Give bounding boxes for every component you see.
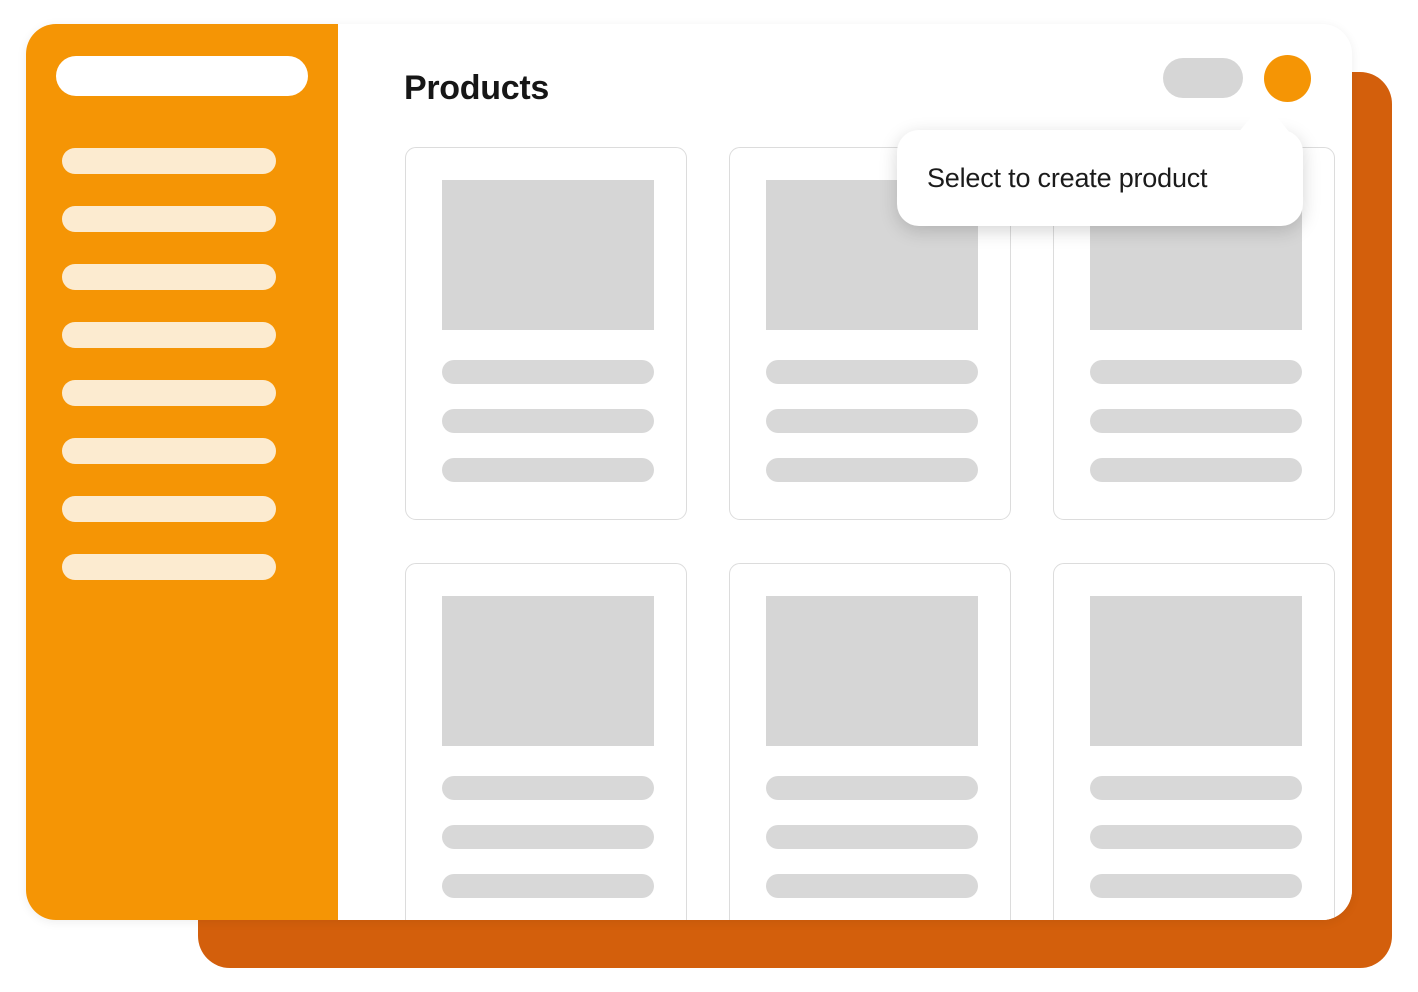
product-image-placeholder: [766, 596, 978, 746]
product-price-placeholder: [766, 874, 978, 898]
product-price-placeholder: [442, 874, 654, 898]
product-meta-placeholder: [442, 409, 654, 433]
sidebar-item-3[interactable]: [62, 264, 276, 290]
product-title-placeholder: [442, 776, 654, 800]
product-card-6[interactable]: [1053, 563, 1335, 920]
tooltip-label: Select to create product: [927, 130, 1283, 226]
product-image-placeholder: [442, 596, 654, 746]
product-card-5[interactable]: [729, 563, 1011, 920]
product-card-1[interactable]: [405, 147, 687, 520]
product-price-placeholder: [442, 458, 654, 482]
sidebar-item-1[interactable]: [62, 148, 276, 174]
product-meta-placeholder: [766, 825, 978, 849]
header-secondary-button[interactable]: [1163, 58, 1243, 98]
sidebar-item-5[interactable]: [62, 380, 276, 406]
sidebar-item-8[interactable]: [62, 554, 276, 580]
product-title-placeholder: [766, 360, 978, 384]
product-price-placeholder: [1090, 874, 1302, 898]
product-title-placeholder: [766, 776, 978, 800]
create-product-button[interactable]: [1264, 55, 1311, 102]
product-card-4[interactable]: [405, 563, 687, 920]
sidebar-item-6[interactable]: [62, 438, 276, 464]
product-title-placeholder: [1090, 360, 1302, 384]
product-image-placeholder: [1090, 596, 1302, 746]
product-title-placeholder: [1090, 776, 1302, 800]
product-meta-placeholder: [766, 409, 978, 433]
sidebar: [26, 24, 338, 920]
sidebar-item-4[interactable]: [62, 322, 276, 348]
product-image-placeholder: [442, 180, 654, 330]
tooltip-arrow-icon: [1238, 101, 1290, 133]
product-price-placeholder: [1090, 458, 1302, 482]
sidebar-item-2[interactable]: [62, 206, 276, 232]
product-meta-placeholder: [1090, 825, 1302, 849]
screenshot-root: Products: [0, 0, 1418, 992]
product-meta-placeholder: [1090, 409, 1302, 433]
product-meta-placeholder: [442, 825, 654, 849]
product-price-placeholder: [766, 458, 978, 482]
product-title-placeholder: [442, 360, 654, 384]
sidebar-logo[interactable]: [56, 56, 308, 96]
page-title: Products: [404, 66, 549, 110]
create-product-tooltip: Select to create product: [897, 130, 1303, 226]
sidebar-item-7[interactable]: [62, 496, 276, 522]
